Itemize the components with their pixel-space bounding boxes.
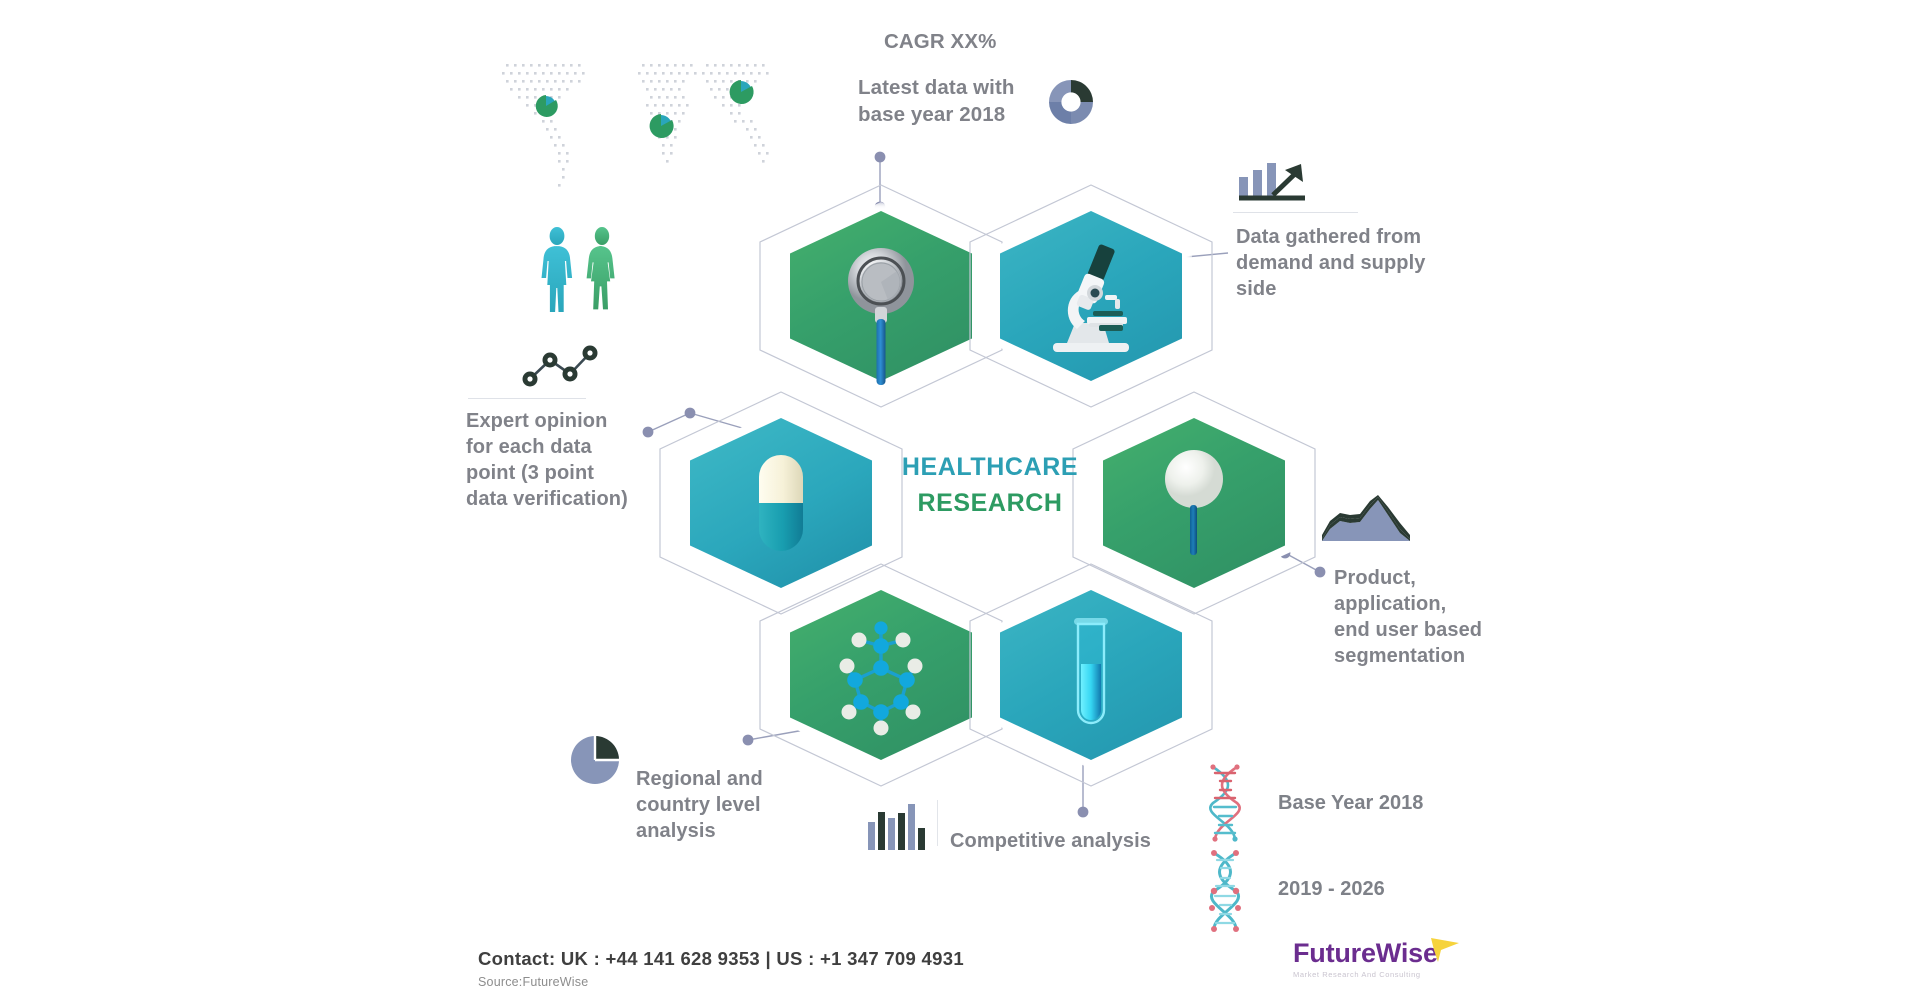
logo-arrow-icon xyxy=(1429,936,1463,969)
contact-info: Contact: UK : +44 141 628 9353 | US : +1… xyxy=(478,948,964,970)
donut-chart-icon xyxy=(1045,76,1097,133)
title-line-2: RESEARCH xyxy=(880,486,1100,522)
regional-line-1: Regional and xyxy=(636,766,826,792)
test-tube-icon xyxy=(1000,590,1182,760)
hexagon-capsule[interactable] xyxy=(690,418,872,588)
microscope-icon xyxy=(1000,211,1182,381)
segmentation-line-2: application, xyxy=(1334,591,1554,617)
segmentation-line-3: end user based xyxy=(1334,617,1554,643)
area-chart-icon xyxy=(1320,495,1412,550)
base-year-callout: Latest data with base year 2018 xyxy=(858,75,1043,128)
bar-chart-arrow-icon xyxy=(1235,158,1311,211)
expert-opinion-line-1: Expert opinion xyxy=(466,408,666,434)
segmentation-line-1: Product, xyxy=(1334,565,1554,591)
hexagon-molecule[interactable] xyxy=(790,590,972,760)
dna-helix-icon xyxy=(1203,850,1247,937)
capsule-pill-icon xyxy=(690,418,872,588)
hexagon-stethoscope[interactable] xyxy=(790,211,972,381)
dna-helix-icon xyxy=(1203,764,1247,847)
people-silhouettes-icon xyxy=(533,225,633,325)
title-line-1: HEALTHCARE xyxy=(880,450,1100,486)
magnifying-glass-icon xyxy=(1103,418,1285,588)
infographic-canvas: HEALTHCARE RESEARCH CAGR XX% Latest data… xyxy=(0,0,1920,1004)
pie-chart-icon xyxy=(568,733,622,792)
dotted-world-map xyxy=(498,50,858,205)
hexagon-magnifier[interactable] xyxy=(1103,418,1285,588)
futurewise-logo[interactable]: FutureWise Market Research And Consultin… xyxy=(1293,940,1438,979)
expert-opinion-line-2: for each data xyxy=(466,434,666,460)
demand-supply-line-3: side xyxy=(1236,276,1466,302)
divider xyxy=(1233,212,1358,213)
expert-opinion-line-4: data verification) xyxy=(466,486,666,512)
regional-line-2: country level xyxy=(636,792,826,818)
logo-tagline: Market Research And Consulting xyxy=(1293,970,1438,979)
segmentation-callout: Product, application, end user based seg… xyxy=(1334,565,1554,669)
hexagon-microscope[interactable] xyxy=(1000,211,1182,381)
stethoscope-icon xyxy=(790,211,972,381)
expert-opinion-line-3: point (3 point xyxy=(466,460,666,486)
demand-supply-line-1: Data gathered from xyxy=(1236,224,1466,250)
regional-line-3: analysis xyxy=(636,818,826,844)
page-title: HEALTHCARE RESEARCH xyxy=(880,450,1100,521)
demand-supply-callout: Data gathered from demand and supply sid… xyxy=(1236,224,1466,302)
base-year-line-2: base year 2018 xyxy=(858,102,1043,129)
expert-opinion-callout: Expert opinion for each data point (3 po… xyxy=(466,408,666,512)
line-chart-nodes-icon xyxy=(518,340,602,395)
cagr-label: CAGR XX% xyxy=(884,29,996,56)
source-label: Source:FutureWise xyxy=(478,975,588,989)
divider xyxy=(937,800,938,846)
divider xyxy=(468,398,586,399)
hexagon-testtube[interactable] xyxy=(1000,590,1182,760)
competitive-label: Competitive analysis xyxy=(950,828,1151,854)
segmentation-line-4: segmentation xyxy=(1334,643,1554,669)
forecast-badge-label: 2019 - 2026 xyxy=(1278,876,1385,902)
logo-text: FutureWise xyxy=(1293,940,1438,967)
bar-chart-icon xyxy=(866,800,928,857)
regional-callout: Regional and country level analysis xyxy=(636,766,826,844)
demand-supply-line-2: demand and supply xyxy=(1236,250,1466,276)
molecule-icon xyxy=(790,590,972,760)
base-year-badge-label: Base Year 2018 xyxy=(1278,790,1423,816)
base-year-line-1: Latest data with xyxy=(858,75,1043,102)
